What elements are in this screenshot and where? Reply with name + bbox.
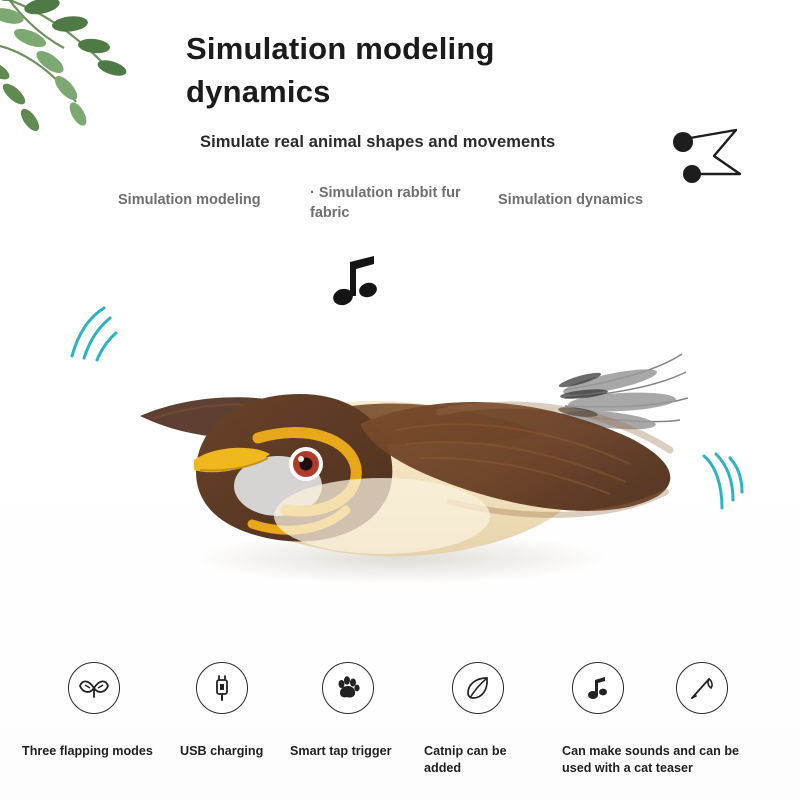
feature-icon-row: Three flapping modes USB charging <box>0 662 800 792</box>
feature-label-catnip: Catnip can be added <box>424 743 544 776</box>
feature-label-smart-tap-trigger: Smart tap trigger <box>290 743 430 760</box>
cat-teaser-wand-icon <box>676 662 728 714</box>
feature-item-catnip <box>452 662 504 714</box>
feature-item-smart-tap-trigger <box>322 662 374 714</box>
feature-label-usb-charging: USB charging <box>180 743 300 760</box>
paw-print-icon <box>322 662 374 714</box>
feature-item-flapping-modes <box>68 662 120 714</box>
abstract-node-arrow-icon <box>670 128 756 188</box>
page-title: Simulation modeling dynamics <box>186 28 616 114</box>
feature-label-flapping-modes: Three flapping modes <box>22 743 172 760</box>
poster-canvas: Simulation modeling dynamics Simulate re… <box>0 0 800 800</box>
sound-note-icon <box>572 662 624 714</box>
motion-arc-icon <box>700 452 746 514</box>
flapping-wings-icon <box>68 662 120 714</box>
feature-item-sound <box>572 662 624 714</box>
product-image-flapping-bird-toy <box>110 320 690 600</box>
page-subtitle: Simulate real animal shapes and movement… <box>200 133 555 152</box>
feature-item-usb-charging <box>196 662 248 714</box>
feature-label-sound-teaser: Can make sounds and can be used with a c… <box>562 743 772 776</box>
feature-item-cat-teaser <box>676 662 728 714</box>
feature-caption-rabbit-fur-fabric: · Simulation rabbit fur fabric <box>310 184 490 223</box>
feature-caption-simulation-dynamics: Simulation dynamics <box>498 191 688 211</box>
usb-plug-icon <box>196 662 248 714</box>
music-note-icon <box>330 252 386 310</box>
leaf-icon <box>452 662 504 714</box>
feature-caption-simulation-modeling: Simulation modeling <box>118 191 298 211</box>
